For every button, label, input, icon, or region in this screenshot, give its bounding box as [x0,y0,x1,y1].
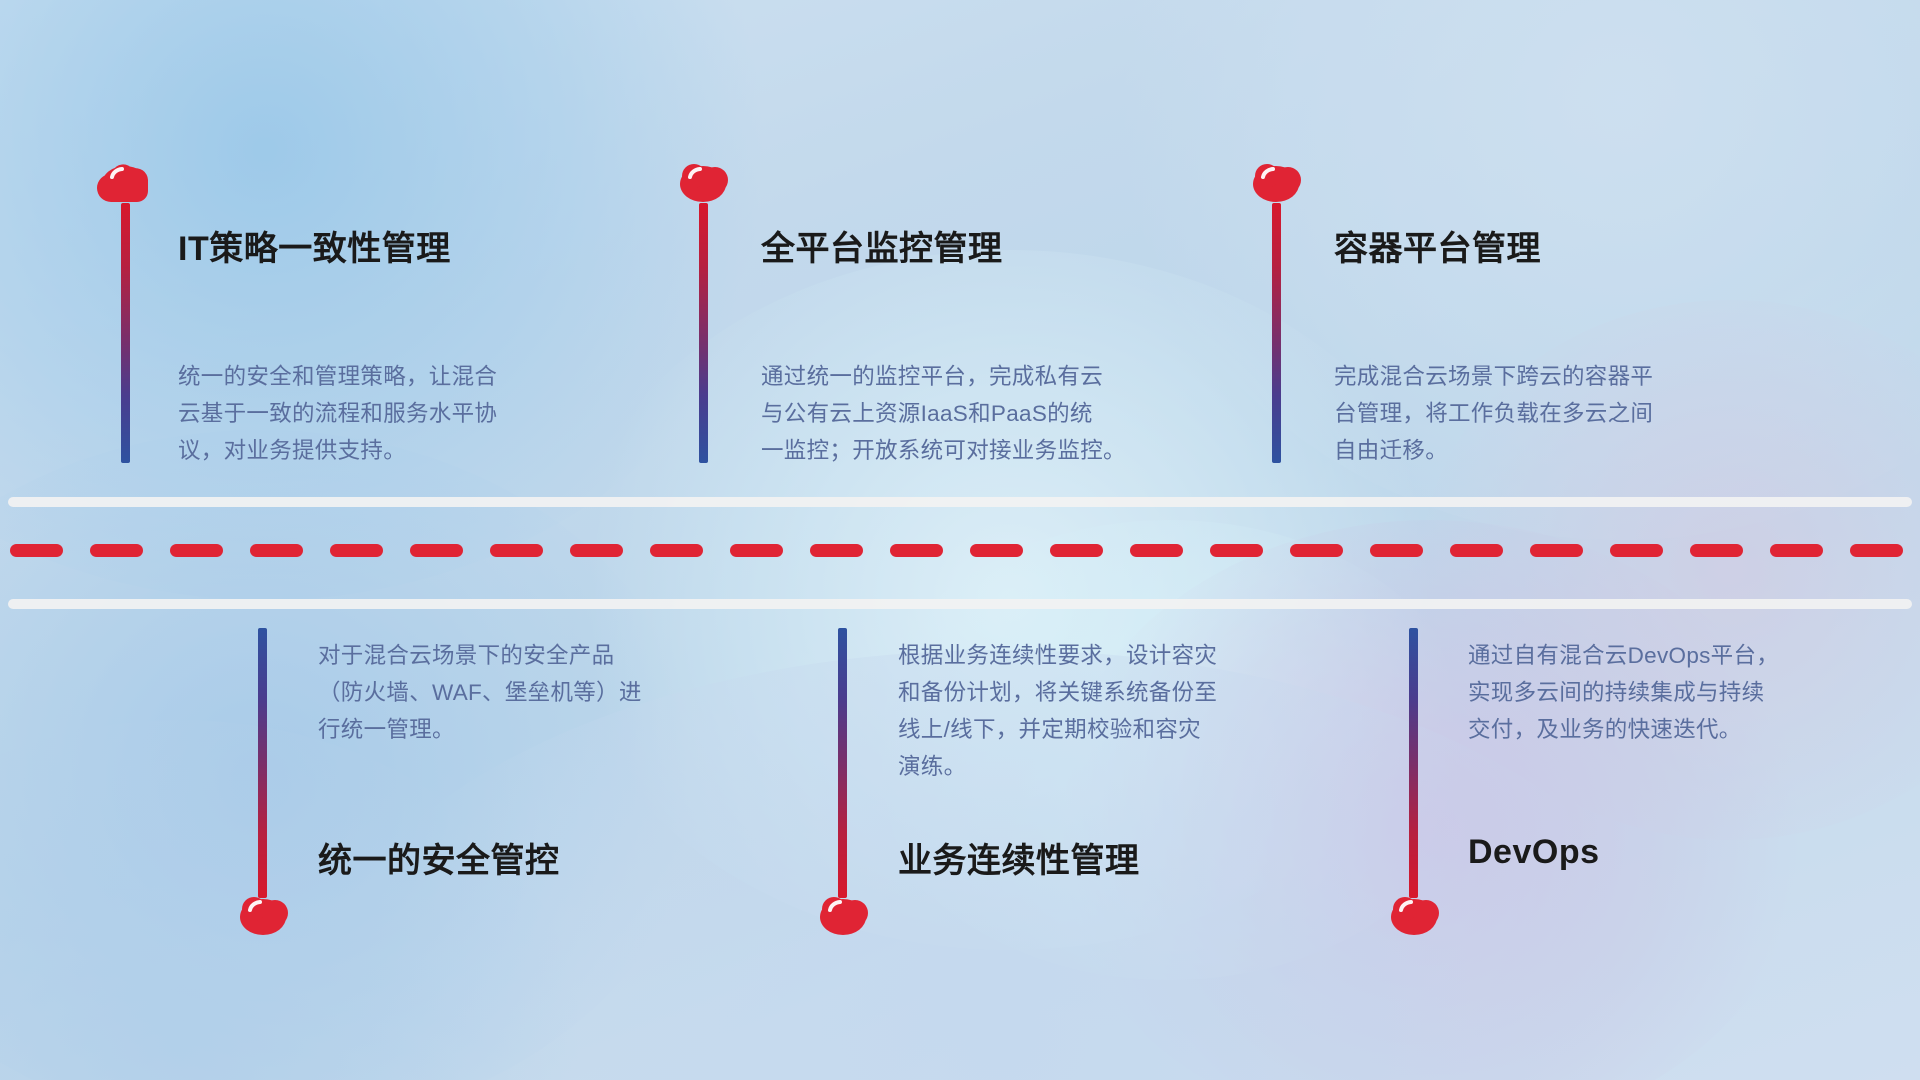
divider-dash [170,544,223,557]
divider-dash [1530,544,1583,557]
divider-dash [1050,544,1103,557]
infographic-canvas: IT策略一致性管理 统一的安全和管理策略，让混合 云基于一致的流程和服务水平协 … [0,0,1920,1080]
panel-body: 通过统一的监控平台，完成私有云 与公有云上资源IaaS和PaaS的统 一监控；开… [761,358,1126,469]
panel-body: 对于混合云场景下的安全产品 （防火墙、WAF、堡垒机等）进 行统一管理。 [318,637,642,748]
divider-dash [570,544,623,557]
body-line: 通过统一的监控平台，完成私有云 [761,358,1126,395]
divider-dashed-line [10,544,1912,557]
divider-dash [1850,544,1903,557]
panel-title: 容器平台管理 [1334,221,1541,270]
panel-body: 完成混合云场景下跨云的容器平 台管理，将工作负载在多云之间 自由迁移。 [1334,358,1653,469]
body-line: 统一的安全和管理策略，让混合 [178,358,497,395]
divider-dash [1690,544,1743,557]
divider-dash [1450,544,1503,557]
divider-dash [250,544,303,557]
divider-dash [890,544,943,557]
divider-dash [10,544,63,557]
body-line: 台管理，将工作负载在多云之间 [1334,395,1653,432]
body-line: 演练。 [898,748,1217,785]
body-line: （防火墙、WAF、堡垒机等）进 [318,674,642,711]
divider-dash [810,544,863,557]
panel-title: 业务连续性管理 [898,833,1140,882]
divider-dash [970,544,1023,557]
divider-dash [490,544,543,557]
timeline-stem [121,203,130,463]
body-line: 自由迁移。 [1334,432,1653,469]
panel-body: 通过自有混合云DevOps平台， 实现多云间的持续集成与持续 交付，及业务的快速… [1468,637,1779,748]
body-line: 与公有云上资源IaaS和PaaS的统 [761,395,1126,432]
divider-rule-top [8,497,1912,507]
divider-dash [1770,544,1823,557]
divider-dash [730,544,783,557]
body-line: 线上/线下，并定期校验和容灾 [898,711,1217,748]
cloud-icon [812,893,874,940]
body-line: 实现多云间的持续集成与持续 [1468,674,1779,711]
panel-title: IT策略一致性管理 [178,221,451,270]
panel-body: 统一的安全和管理策略，让混合 云基于一致的流程和服务水平协 议，对业务提供支持。 [178,358,497,469]
divider-dash [1610,544,1663,557]
timeline-stem [699,203,708,463]
panel-title: 统一的安全管控 [318,833,560,882]
body-line: 云基于一致的流程和服务水平协 [178,395,497,432]
panel-title: 全平台监控管理 [761,221,1003,270]
body-line: 根据业务连续性要求，设计容灾 [898,637,1217,674]
divider-dash [410,544,463,557]
cloud-icon [94,160,156,207]
body-line: 交付，及业务的快速迭代。 [1468,711,1779,748]
cloud-icon [232,893,294,940]
timeline-stem [838,628,847,898]
divider-dash [650,544,703,557]
body-line: 和备份计划，将关键系统备份至 [898,674,1217,711]
divider-dash [90,544,143,557]
divider-dash [1290,544,1343,557]
timeline-stem [1272,203,1281,463]
body-line: 行统一管理。 [318,711,642,748]
cloud-icon [672,160,734,207]
cloud-icon [1383,893,1445,940]
panel-body: 根据业务连续性要求，设计容灾 和备份计划，将关键系统备份至 线上/线下，并定期校… [898,637,1217,785]
divider-dash [330,544,383,557]
timeline-stem [1409,628,1418,898]
body-line: 完成混合云场景下跨云的容器平 [1334,358,1653,395]
divider-rule-bottom [8,599,1912,609]
body-line: 议，对业务提供支持。 [178,432,497,469]
divider-dash [1130,544,1183,557]
cloud-icon [1245,160,1307,207]
panel-title: DevOps [1468,833,1600,872]
body-line: 通过自有混合云DevOps平台， [1468,637,1779,674]
divider-dash [1370,544,1423,557]
timeline-stem [258,628,267,898]
divider-dash [1210,544,1263,557]
body-line: 对于混合云场景下的安全产品 [318,637,642,674]
body-line: 一监控；开放系统可对接业务监控。 [761,432,1126,469]
